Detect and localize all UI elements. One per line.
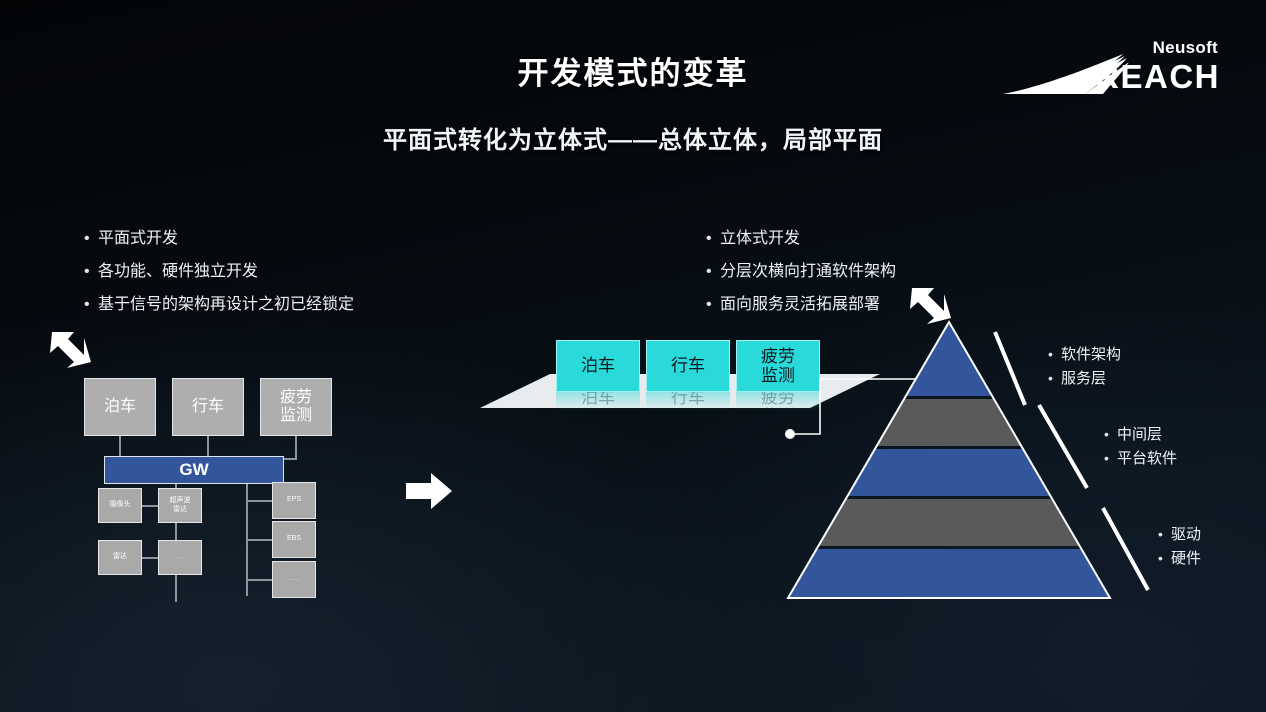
bullet-marker: • xyxy=(1104,448,1117,469)
bullet-marker: • xyxy=(706,228,720,250)
bullet-marker: • xyxy=(84,261,98,283)
pyramid-label-text: 驱动 xyxy=(1171,524,1201,545)
bullet-item: • 各功能、硬件独立开发 xyxy=(84,261,354,283)
bullet-item: • 分层次横向打通软件架构 xyxy=(706,261,896,283)
pyramid-label-item: • 平台软件 xyxy=(1104,448,1177,469)
pyramid-label-item: • 驱动 xyxy=(1158,524,1201,545)
pyramid-label-item: • 软件架构 xyxy=(1048,344,1121,365)
bullet-marker: • xyxy=(1158,524,1171,545)
bullet-marker: • xyxy=(1158,548,1171,569)
arrow-right-icon xyxy=(404,470,454,512)
bullet-text: 各功能、硬件独立开发 xyxy=(98,261,258,283)
bullet-item: • 基于信号的架构再设计之初已经锁定 xyxy=(84,294,354,316)
bullet-marker: • xyxy=(1048,344,1061,365)
arrow-down-right-icon-left xyxy=(40,322,94,376)
flat-box-label: EBS xyxy=(287,535,301,543)
flat-box-driving: 行车 xyxy=(172,378,244,436)
pyramid-band-upper-middle xyxy=(780,399,1130,446)
bullet-marker: • xyxy=(84,294,98,316)
logo-brand-main: REACH xyxy=(1095,58,1220,96)
pyramid-label-item: • 硬件 xyxy=(1158,548,1201,569)
bullet-text: 分层次横向打通软件架构 xyxy=(720,261,896,283)
flat-box-label: EPS xyxy=(287,496,301,504)
pyramid-band-middle xyxy=(780,449,1130,496)
pyramid-label-item: • 服务层 xyxy=(1048,368,1121,389)
flat-box-label: 疲劳监测 xyxy=(280,389,312,426)
pyramid-label-text: 中间层 xyxy=(1117,424,1162,445)
logo-brand-top: Neusoft xyxy=(1153,38,1218,58)
pyramid-label-group-bottom: • 驱动 • 硬件 xyxy=(1158,524,1201,572)
connector-line xyxy=(246,579,272,581)
flat-box-fatigue: 疲劳监测 xyxy=(260,378,332,436)
brand-logo: Neusoft REACH xyxy=(995,38,1220,100)
bullet-marker: • xyxy=(1104,424,1117,445)
flat-box-ultrasonic-radar: 超声波雷达 xyxy=(158,488,202,523)
pyramid-label-text: 服务层 xyxy=(1061,368,1106,389)
flat-box-label: 摄像头 xyxy=(110,501,131,509)
connector-line xyxy=(246,539,272,541)
service-box-label: 泊车 xyxy=(581,356,615,375)
bullet-marker: • xyxy=(1048,368,1061,389)
flat-box-label: …… xyxy=(174,554,186,561)
bullet-list-left: • 平面式开发 • 各功能、硬件独立开发 • 基于信号的架构再设计之初已经锁定 xyxy=(84,228,354,327)
bullet-text: 立体式开发 xyxy=(720,228,800,250)
bullet-marker: • xyxy=(706,294,720,316)
bullet-text: 基于信号的架构再设计之初已经锁定 xyxy=(98,294,354,316)
pyramid-label-text: 平台软件 xyxy=(1117,448,1177,469)
flat-architecture-diagram: 泊车 行车 疲劳监测 GW 摄像头 超声波雷达 xyxy=(80,372,380,612)
bullet-marker: • xyxy=(84,228,98,250)
flat-box-radar: 雷达 xyxy=(98,540,142,575)
flat-gateway-bar: GW xyxy=(104,456,284,484)
flat-box-label: 行车 xyxy=(192,398,224,416)
flat-box-label: 雷达 xyxy=(113,553,127,561)
pyramid-label-group-top: • 软件架构 • 服务层 xyxy=(1048,344,1121,392)
connector-line xyxy=(295,436,297,459)
pyramid-band-base xyxy=(780,549,1130,610)
service-box-parking: 泊车 xyxy=(556,340,640,392)
bullet-text: 平面式开发 xyxy=(98,228,178,250)
flat-box-more-actuators: …… xyxy=(272,561,316,598)
flat-box-parking: 泊车 xyxy=(84,378,156,436)
flat-box-ebs: EBS xyxy=(272,521,316,558)
flat-box-camera: 摄像头 xyxy=(98,488,142,523)
service-box-label: 行车 xyxy=(671,356,705,375)
bullet-item: • 立体式开发 xyxy=(706,228,896,250)
pyramid-label-group-middle: • 中间层 • 平台软件 xyxy=(1104,424,1177,472)
flat-box-label: …… xyxy=(288,576,300,583)
bullet-marker: • xyxy=(706,261,720,283)
bullet-item: • 平面式开发 xyxy=(84,228,354,250)
flat-box-label: 泊车 xyxy=(104,398,136,416)
flat-box-eps: EPS xyxy=(272,482,316,519)
connector-line xyxy=(246,500,272,502)
service-box-driving: 行车 xyxy=(646,340,730,392)
pyramid-label-item: • 中间层 xyxy=(1104,424,1177,445)
page-subtitle: 平面式转化为立体式——总体立体，局部平面 xyxy=(0,120,1266,155)
flat-box-more-sensors: …… xyxy=(158,540,202,575)
pyramid-label-text: 硬件 xyxy=(1171,548,1201,569)
pyramid-label-text: 软件架构 xyxy=(1061,344,1121,365)
flat-gateway-label: GW xyxy=(179,460,208,480)
slide-canvas: 开发模式的变革 平面式转化为立体式——总体立体，局部平面 Neusoft REA… xyxy=(0,0,1266,712)
flat-box-label: 超声波雷达 xyxy=(170,497,191,513)
